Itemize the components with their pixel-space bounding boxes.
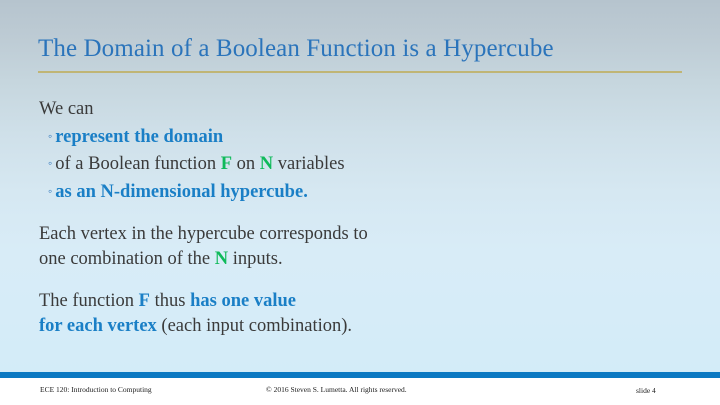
variable-n-symbol: N [260,154,273,174]
bullet-circle-icon: ◦ [48,123,52,150]
presentation-slide: The Domain of a Boolean Function is a Hy… [0,0,720,405]
bullet-3-period: . [303,182,308,202]
footer-copyright-label: © 2016 Steven S. Lumetta. All rights res… [266,385,407,394]
footer-slide-number: slide 4 [636,386,656,395]
bullet-3-text: as an N-dimensional hypercube [55,182,303,202]
bullet-1-text: represent the domain [55,127,223,147]
paragraph3-line1-part2: thus [150,291,190,311]
paragraph3-line1-part1: The function [39,291,139,311]
bullet-circle-icon: ◦ [48,178,52,205]
bullet-item-1: ◦represent the domain [39,123,679,151]
footer-course-label: ECE 120: Introduction to Computing [40,385,152,394]
function-f-symbol: F [139,291,150,311]
paragraph2-line2-part1: one combination of the [39,249,215,269]
slide-body: We can ◦represent the domain ◦of a Boole… [39,96,679,339]
slide-title: The Domain of a Boolean Function is a Hy… [38,34,698,64]
variable-n-symbol: N [215,249,228,269]
intro-text: We can [39,99,94,119]
paragraph3-line1: The function F thus has one value [39,289,679,314]
bullet-2-text-part3: variables [273,154,344,174]
paragraph3-emphasis-1: has one value [190,291,296,311]
title-underline-rule [38,71,682,73]
paragraph2-line2: one combination of the N inputs. [39,247,679,272]
bullet-2-text-part2: on [232,154,260,174]
paragraph2-line2-part2: inputs. [228,249,282,269]
slide-footer: ECE 120: Introduction to Computing © 201… [0,383,720,399]
paragraph3-emphasis-2: for each vertex [39,316,157,336]
paragraph2-line1: Each vertex in the hypercube corresponds… [39,222,679,247]
bullet-item-3: ◦as an N-dimensional hypercube. [39,178,679,206]
paragraph3-line2-part2: (each input combination). [157,316,352,336]
bullet-2-text-part1: of a Boolean function [55,154,220,174]
paragraph-function-value: The function F thus has one value for ea… [39,289,679,339]
bullet-item-2: ◦of a Boolean function F on N variables [39,150,679,178]
bullet-circle-icon: ◦ [48,150,52,177]
variable-f-symbol: F [221,154,232,174]
body-intro-line: We can [39,96,679,123]
paragraph3-line2: for each vertex (each input combination)… [39,314,679,339]
paragraph-vertex-correspondence: Each vertex in the hypercube corresponds… [39,222,679,272]
